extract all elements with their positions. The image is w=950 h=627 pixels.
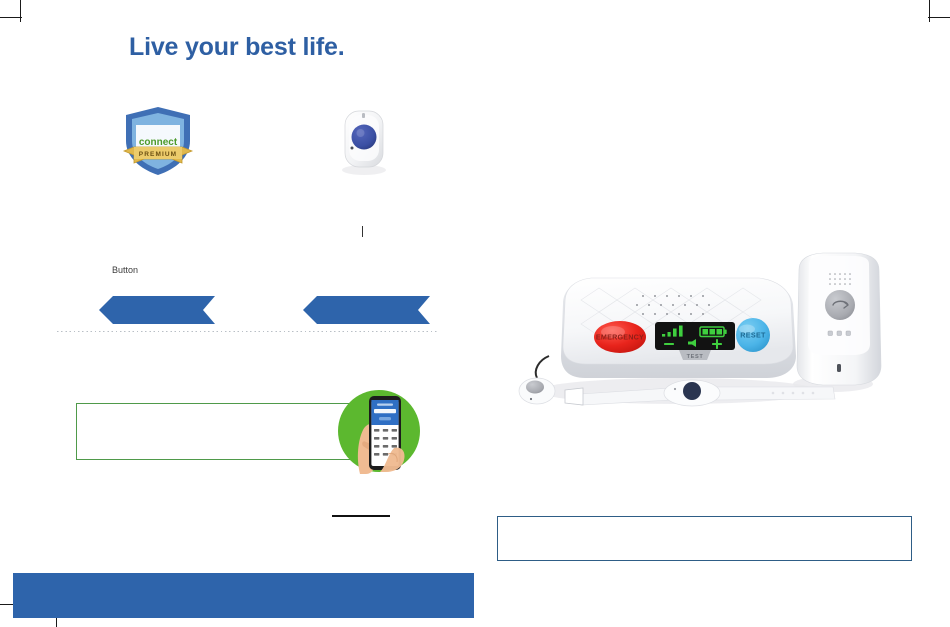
mobile-indicator-lights bbox=[828, 331, 851, 336]
chevron-banner-right[interactable] bbox=[303, 296, 430, 324]
mobile-charging-port-icon bbox=[837, 364, 841, 372]
badge-brand-text: connect bbox=[139, 137, 178, 148]
chevron-banner-left[interactable] bbox=[99, 296, 215, 324]
legal-disclaimer-box bbox=[497, 516, 912, 561]
help-button-pendant-image bbox=[336, 107, 392, 177]
wristband-led-icon bbox=[674, 388, 676, 390]
pendant-press-button bbox=[526, 381, 544, 394]
page-title: Live your best life. bbox=[129, 33, 345, 62]
test-tab-label: TEST bbox=[687, 354, 704, 360]
lanyard-cord-icon bbox=[536, 356, 549, 378]
crop-mark-top-left-horizontal bbox=[0, 17, 22, 18]
button-caption-label: Button bbox=[112, 265, 138, 275]
pendant-call-button-icon bbox=[352, 125, 377, 150]
crop-mark-top-right-vertical bbox=[929, 0, 930, 22]
wristband-buckle-icon bbox=[565, 388, 583, 405]
mobile-call-button bbox=[825, 290, 855, 320]
pendant-lanyard-loop-icon bbox=[362, 113, 365, 118]
lcd-status-display bbox=[655, 322, 735, 350]
volume-down-icon bbox=[664, 343, 674, 345]
signature-underline bbox=[332, 515, 390, 517]
pendant-led-icon bbox=[530, 398, 532, 400]
pendant-button-gloss-icon bbox=[357, 129, 365, 137]
phone-in-hand-image bbox=[336, 388, 422, 474]
phone-call-status-icon bbox=[379, 417, 391, 420]
chevron-right-shape-icon bbox=[303, 296, 430, 324]
base-station-console: EMERGENCY RESET bbox=[561, 278, 796, 378]
chevron-left-shape-icon bbox=[99, 296, 215, 324]
portable-mobile-unit bbox=[797, 253, 881, 385]
pendant-led-icon bbox=[351, 147, 354, 150]
reset-button-label: RESET bbox=[740, 331, 766, 340]
connect-premium-badge: connect PREMIUM bbox=[120, 105, 196, 177]
text-cursor-tick bbox=[362, 226, 363, 237]
dotted-divider bbox=[57, 331, 438, 332]
phone-title-bar-icon bbox=[374, 409, 396, 413]
wristband-press-button bbox=[683, 382, 701, 400]
badge-ribbon-text: PREMIUM bbox=[139, 151, 177, 158]
emergency-button-label: EMERGENCY bbox=[596, 333, 644, 342]
neck-pendant-button bbox=[519, 356, 555, 404]
crop-mark-top-right-horizontal bbox=[928, 17, 950, 18]
phone-subtitle-bar-icon bbox=[377, 404, 393, 406]
footer-banner bbox=[13, 573, 474, 618]
feature-callout-box bbox=[76, 403, 364, 460]
page-canvas: Live your best life. connect PREMIUM bbox=[0, 0, 950, 627]
crop-mark-top-left-vertical bbox=[20, 0, 21, 22]
medical-alert-system-photo: EMERGENCY RESET bbox=[503, 248, 903, 428]
